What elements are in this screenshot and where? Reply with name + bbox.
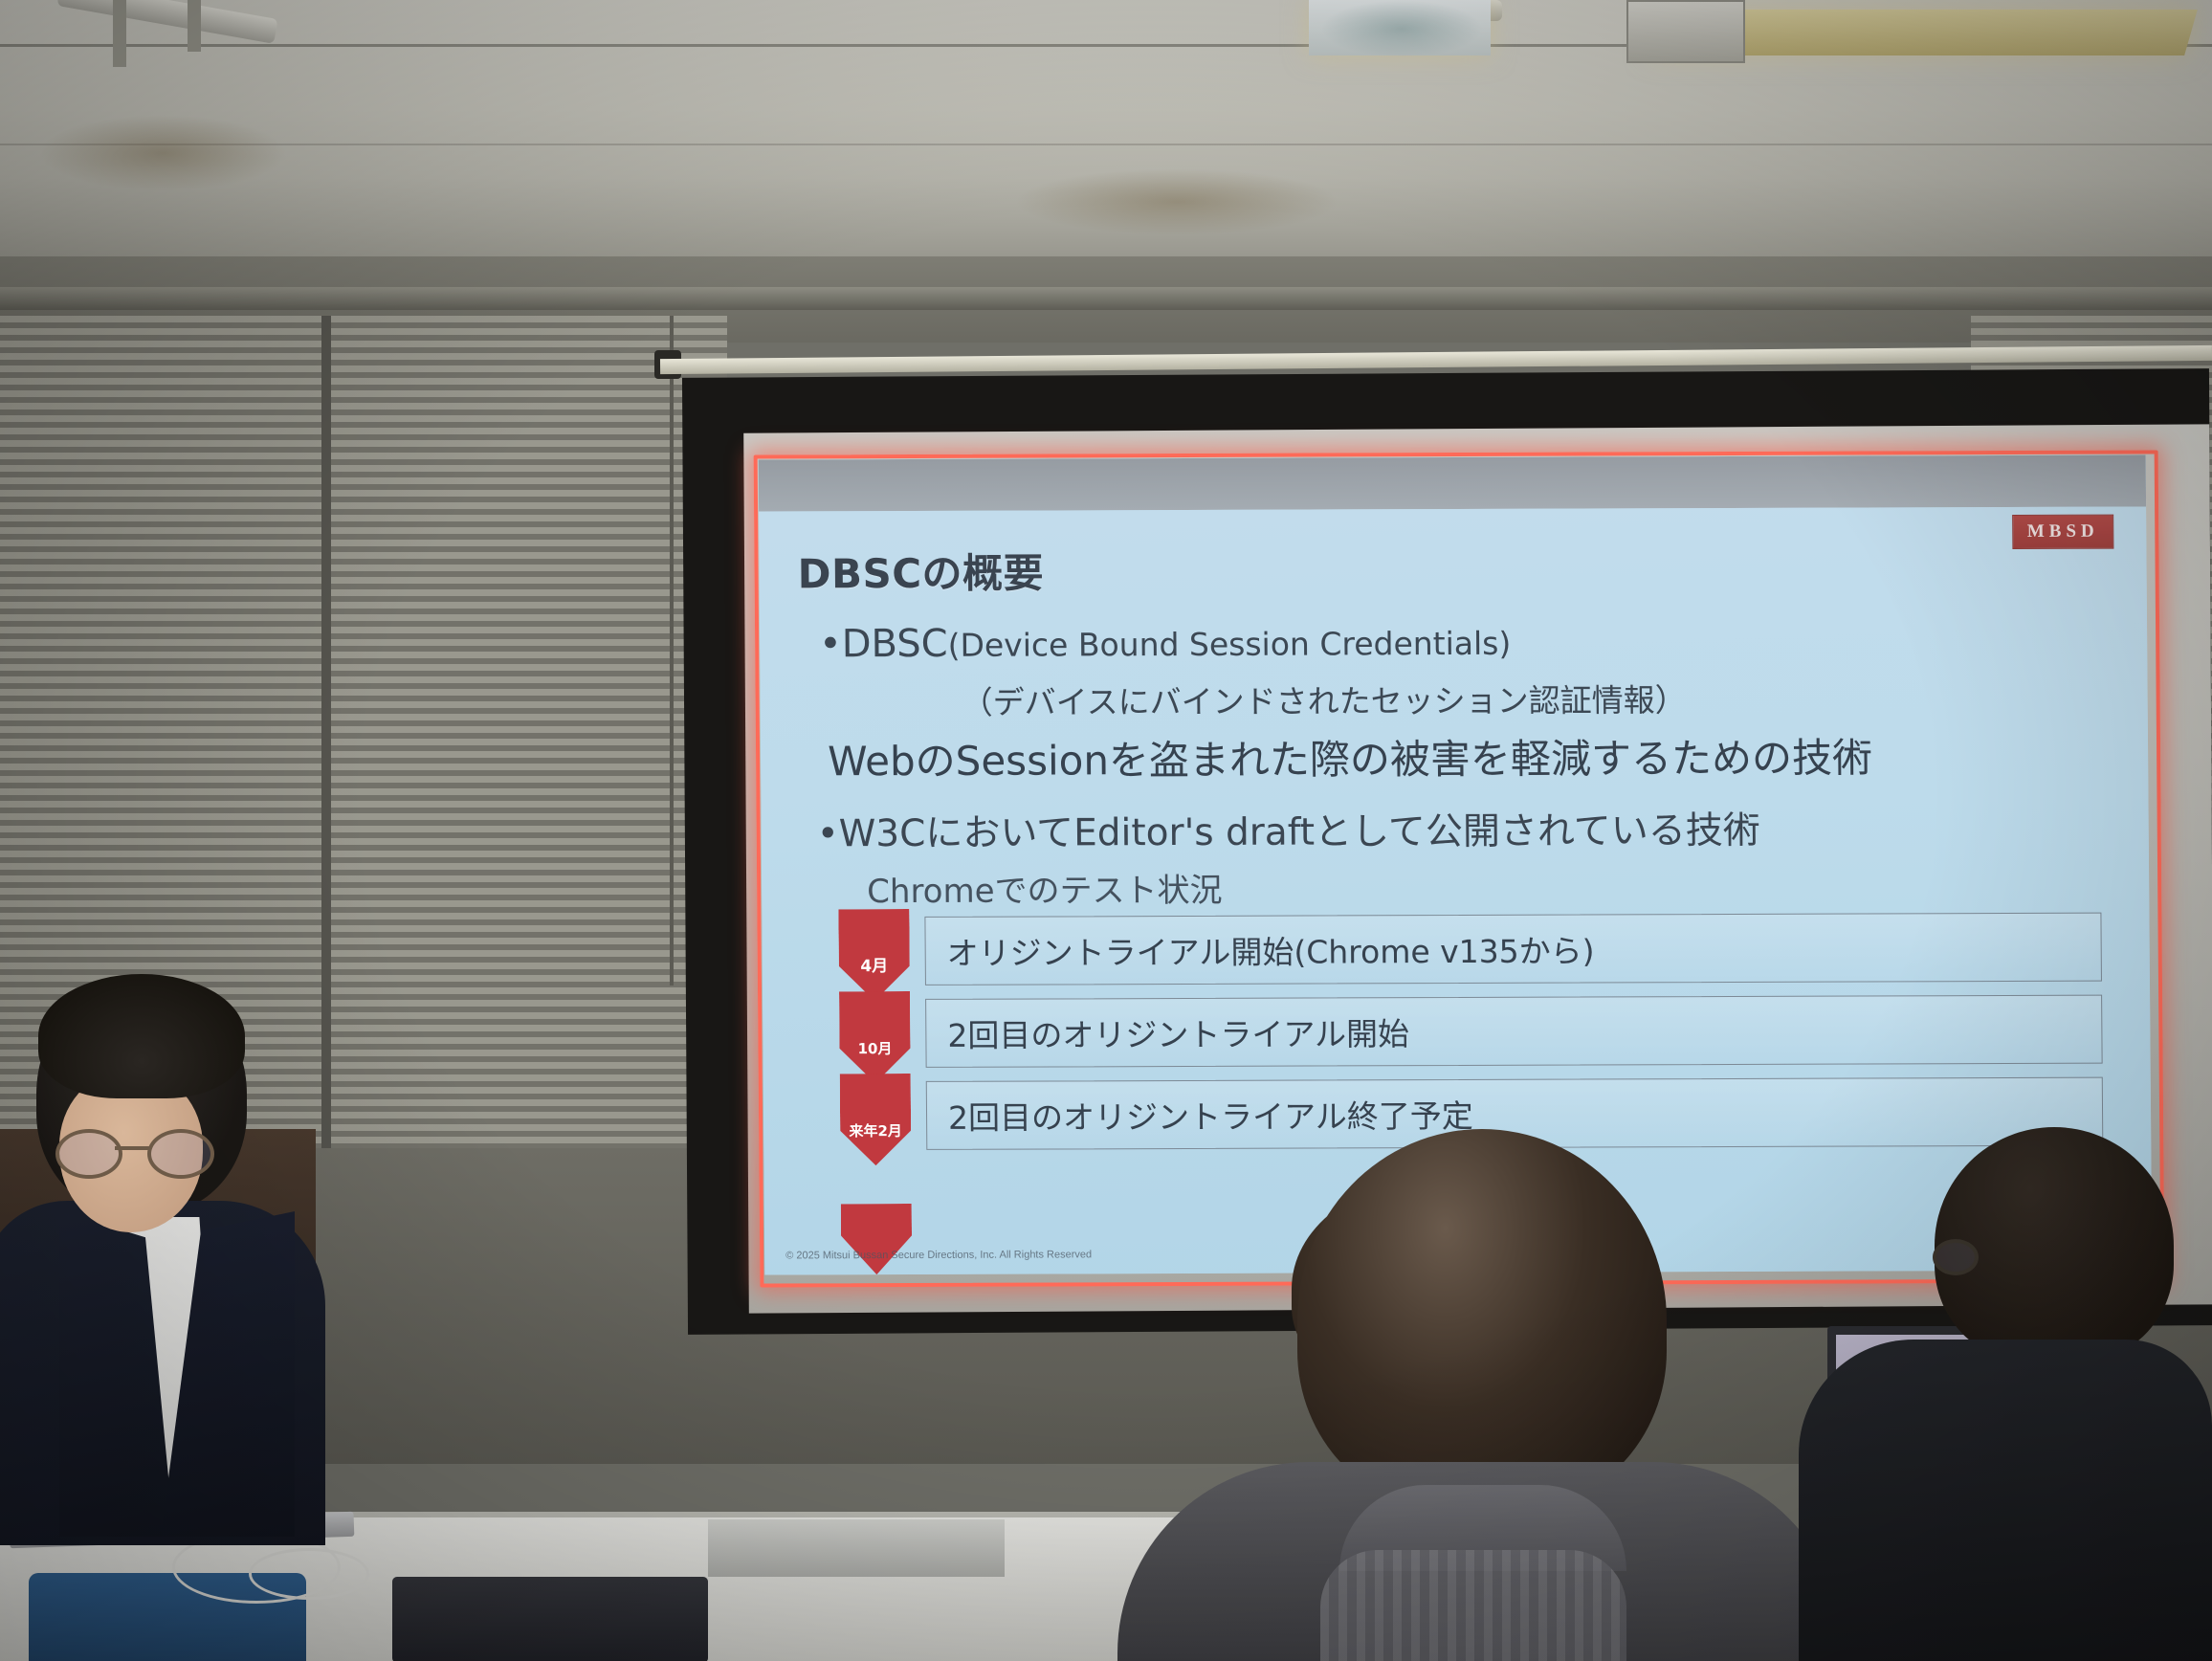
ceiling-panel-line [0,144,2212,145]
equipment-box [392,1577,708,1661]
glasses-icon [55,1129,209,1171]
glasses-icon [1933,1239,1979,1275]
ceiling-stain [38,115,287,191]
hair [38,974,245,1098]
ceiling-hanger [113,0,126,67]
glasses-bridge [115,1146,149,1150]
blind-cord [670,316,674,986]
table-tray [708,1519,1005,1577]
photo-scene: MBSD DBSCの概要 •DBSC(Device Bound Session … [0,0,2212,1661]
cable [249,1548,369,1600]
torso [1799,1340,2212,1661]
ceiling-vent [1626,0,1745,63]
blind-divider [321,316,331,1273]
ceiling-stain [1014,168,1339,235]
ceiling-stain [1320,0,1483,57]
ceiling-hanger [188,0,201,52]
jacket-pattern [1320,1550,1626,1661]
glasses-lens-right [147,1129,214,1179]
glasses-lens-left [55,1129,122,1179]
head [1297,1129,1667,1512]
wall-rail [0,287,2212,310]
